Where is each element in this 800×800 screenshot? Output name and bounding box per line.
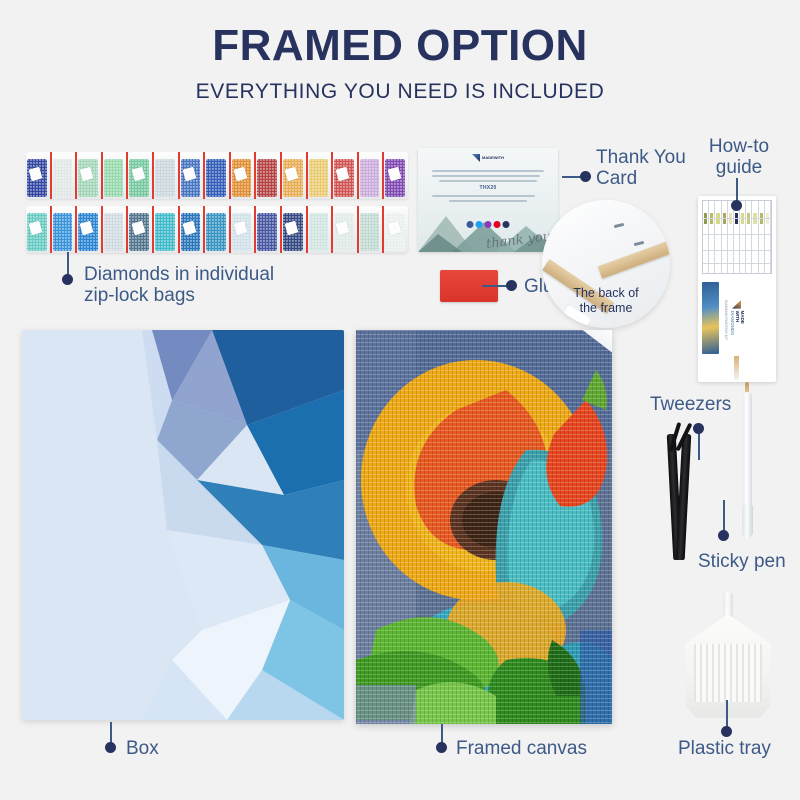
label-framed-canvas: Framed canvas xyxy=(456,738,587,759)
zip-lock-bag xyxy=(103,206,129,253)
zip-lock-bag xyxy=(282,206,308,253)
page-subtitle: EVERYTHING YOU NEED IS INCLUDED xyxy=(0,80,800,104)
zip-lock-bag xyxy=(205,152,231,199)
bag-beads xyxy=(360,213,380,252)
glue-leader-dot xyxy=(506,280,517,291)
card-promo-code: THX20 xyxy=(432,185,544,191)
bag-beads xyxy=(104,213,124,252)
tray-leader-dot xyxy=(721,726,732,737)
canvas-diamond-grid xyxy=(356,330,612,724)
thankyou-leader-dot xyxy=(580,171,591,182)
guide-logo-line2: DIAMONDS xyxy=(729,311,734,336)
label-box: Box xyxy=(126,738,159,759)
zip-lock-bag xyxy=(52,206,78,253)
twitter-icon xyxy=(476,221,483,228)
zip-lock-bag xyxy=(180,152,206,199)
facebook-icon xyxy=(467,221,474,228)
product-box: MADEWITH DIAMONDS xyxy=(22,330,344,720)
bag-beads xyxy=(257,213,277,252)
pinterest-icon xyxy=(494,221,501,228)
sticky-pen xyxy=(740,382,755,538)
gem-icon xyxy=(472,154,480,162)
card-logo: MADEWITH xyxy=(472,154,504,162)
card-message: THX20 xyxy=(432,170,544,205)
label-diamonds: Diamonds in individual zip-lock bags xyxy=(84,264,274,307)
zip-lock-bag xyxy=(180,206,206,253)
bag-beads xyxy=(206,213,226,252)
zip-lock-bag xyxy=(128,152,154,199)
zip-lock-bag xyxy=(154,152,180,199)
zip-lock-bag xyxy=(359,206,385,253)
label-thank-you-card: Thank You Card xyxy=(596,147,686,190)
box-low-poly-pattern xyxy=(22,330,344,720)
label-tweezers: Tweezers xyxy=(650,394,731,415)
zip-lock-bag xyxy=(384,152,408,199)
zip-lock-bag xyxy=(256,152,282,199)
zip-lock-bag xyxy=(154,206,180,253)
frame-back-bubble: The back of the frame xyxy=(542,200,670,328)
zip-lock-bag xyxy=(231,206,257,253)
stickypen-leader-line xyxy=(723,500,725,534)
zip-lock-bag xyxy=(128,206,154,253)
zip-lock-bag xyxy=(26,206,52,253)
instagram-icon xyxy=(485,221,492,228)
guide-logo-line1: MADE WITH xyxy=(734,311,744,336)
diamond-bag-row-bottom xyxy=(26,206,408,253)
color-code-chart xyxy=(702,200,772,274)
zip-lock-bag xyxy=(359,152,385,199)
card-logo-text: MADEWITH xyxy=(482,156,504,160)
tweezer-arm-right xyxy=(676,434,692,560)
bag-beads xyxy=(257,159,277,198)
diamonds-leader-line xyxy=(67,252,69,276)
bag-beads xyxy=(104,159,124,198)
label-how-to-guide: How-to guide xyxy=(702,136,776,179)
zip-lock-bag xyxy=(308,206,334,253)
tweezers-leader-line xyxy=(698,430,700,460)
plastic-tray xyxy=(680,592,776,722)
how-to-guide-panel: MADE WITH DIAMONDS DIAMOND PAINTING KIT xyxy=(698,196,776,382)
guide-logo: MADE WITH DIAMONDS xyxy=(729,300,744,336)
guide-photo xyxy=(702,282,719,354)
zip-lock-bag xyxy=(103,152,129,199)
box-leader-dot xyxy=(105,742,116,753)
mail-icon xyxy=(503,221,510,228)
bag-beads xyxy=(309,159,329,198)
gem-icon xyxy=(732,300,741,309)
label-sticky-pen: Sticky pen xyxy=(698,551,786,572)
pen-grip xyxy=(742,504,753,538)
card-social-icons xyxy=(467,221,510,228)
zip-lock-bag xyxy=(308,152,334,199)
zip-lock-bag xyxy=(256,206,282,253)
guide-pen-graphic xyxy=(734,356,739,380)
bag-beads xyxy=(309,213,329,252)
zip-lock-bag xyxy=(231,152,257,199)
zip-lock-bag xyxy=(333,152,359,199)
guide-caption: DIAMOND PAINTING KIT xyxy=(724,300,728,340)
zip-lock-bag xyxy=(26,152,52,199)
zip-lock-bag xyxy=(205,206,231,253)
thank-you-card: MADEWITH THX20 thank you xyxy=(418,148,558,252)
zip-lock-bag xyxy=(77,206,103,253)
label-frame-back: The back of the frame xyxy=(542,286,670,315)
zip-lock-bag xyxy=(333,206,359,253)
diamond-bag-row-top xyxy=(26,152,408,199)
bag-beads xyxy=(206,159,226,198)
infographic-stage: FRAMED OPTION EVERYTHING YOU NEED IS INC… xyxy=(0,0,800,800)
bag-beads xyxy=(155,159,175,198)
tweezers-leader-dot xyxy=(693,423,704,434)
bag-beads xyxy=(155,213,175,252)
zip-lock-bag xyxy=(282,152,308,199)
page-title: FRAMED OPTION xyxy=(0,24,800,68)
canvas-leader-dot xyxy=(436,742,447,753)
framed-canvas xyxy=(356,330,612,724)
tray-ribs xyxy=(694,644,762,702)
bag-beads xyxy=(53,213,73,252)
zip-lock-bag xyxy=(384,206,408,253)
pen-body xyxy=(743,392,752,514)
label-plastic-tray: Plastic tray xyxy=(678,738,771,759)
bag-beads xyxy=(360,159,380,198)
zip-lock-bag xyxy=(77,152,103,199)
diamonds-leader-dot xyxy=(62,274,73,285)
zip-lock-bag xyxy=(52,152,78,199)
howto-leader-dot xyxy=(731,200,742,211)
stickypen-leader-dot xyxy=(718,530,729,541)
bag-beads xyxy=(53,159,73,198)
